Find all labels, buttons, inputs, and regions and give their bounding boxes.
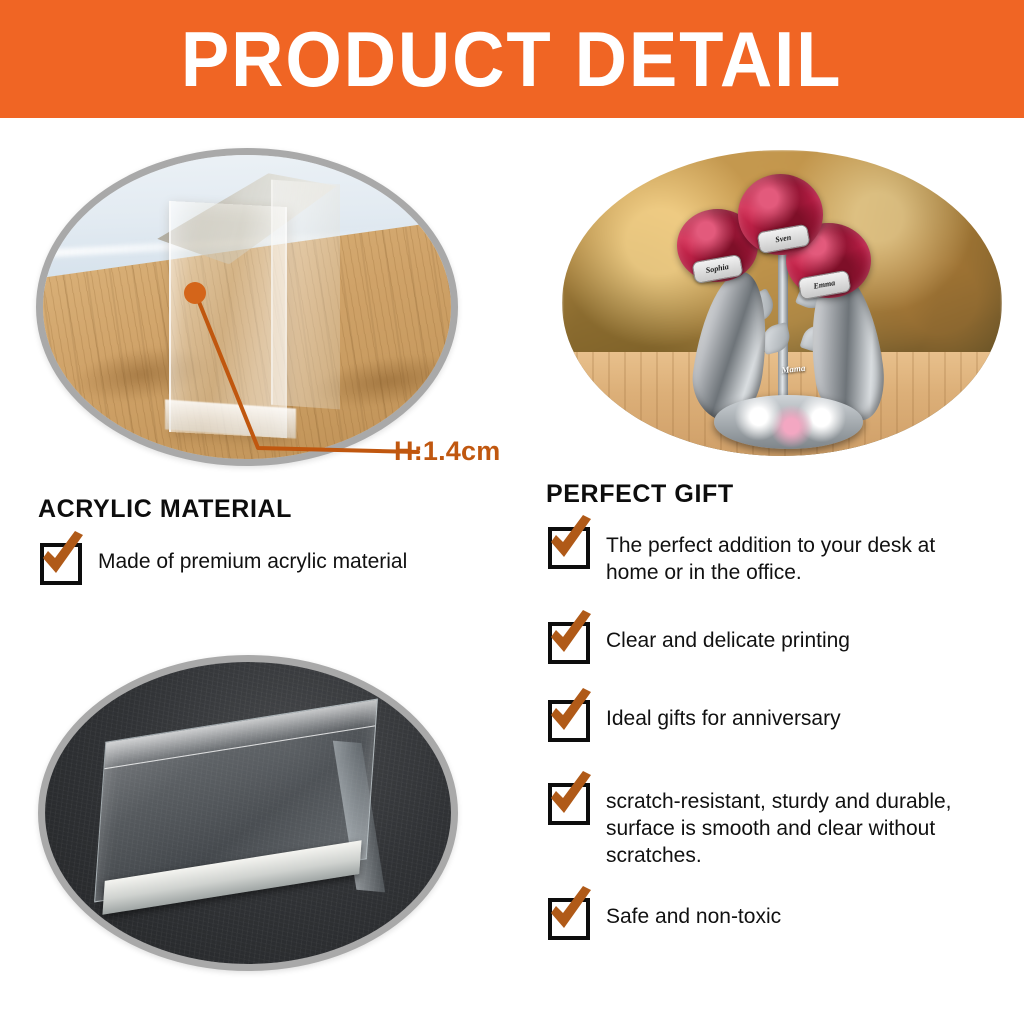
callout-marker-dot	[184, 282, 206, 304]
feature-text: scratch-resistant, sturdy and durable, s…	[606, 783, 998, 870]
feature-text: Made of premium acrylic material	[98, 543, 407, 576]
checkmark-icon	[548, 783, 590, 825]
feature-text: Ideal gifts for anniversary	[606, 700, 841, 733]
checkmark-icon	[40, 543, 82, 585]
hand-engraving-label: Mama	[765, 355, 822, 382]
photo-acrylic-block	[38, 655, 458, 971]
feature-text: Safe and non-toxic	[606, 898, 781, 931]
checkmark-icon	[548, 527, 590, 569]
feature-item: Made of premium acrylic material	[40, 543, 510, 585]
rose-figurine: Sven Sophia Emma Mama	[685, 174, 887, 443]
heading-acrylic-material: ACRYLIC MATERIAL	[38, 495, 292, 524]
crystal-gem-base	[714, 395, 864, 449]
feature-text: The perfect addition to your desk at hom…	[606, 527, 978, 587]
feature-item: Ideal gifts for anniversary	[548, 700, 978, 742]
page-title: PRODUCT DETAIL	[181, 20, 842, 98]
feature-item: Safe and non-toxic	[548, 898, 978, 940]
checkmark-icon	[548, 622, 590, 664]
height-dimension-label: H:1.4cm	[394, 436, 500, 467]
feature-item: scratch-resistant, sturdy and durable, s…	[548, 783, 998, 870]
feature-item: The perfect addition to your desk at hom…	[548, 527, 978, 587]
feature-item: Clear and delicate printing	[548, 622, 978, 664]
photo-rose-figurine: Sven Sophia Emma Mama	[562, 150, 1002, 456]
header-banner: PRODUCT DETAIL	[0, 0, 1024, 118]
product-detail-infographic: PRODUCT DETAIL Sven Sophia	[0, 0, 1024, 1024]
heading-perfect-gift: PERFECT GIFT	[546, 480, 734, 509]
feature-text: Clear and delicate printing	[606, 622, 850, 655]
checkmark-icon	[548, 898, 590, 940]
checkmark-icon	[548, 700, 590, 742]
